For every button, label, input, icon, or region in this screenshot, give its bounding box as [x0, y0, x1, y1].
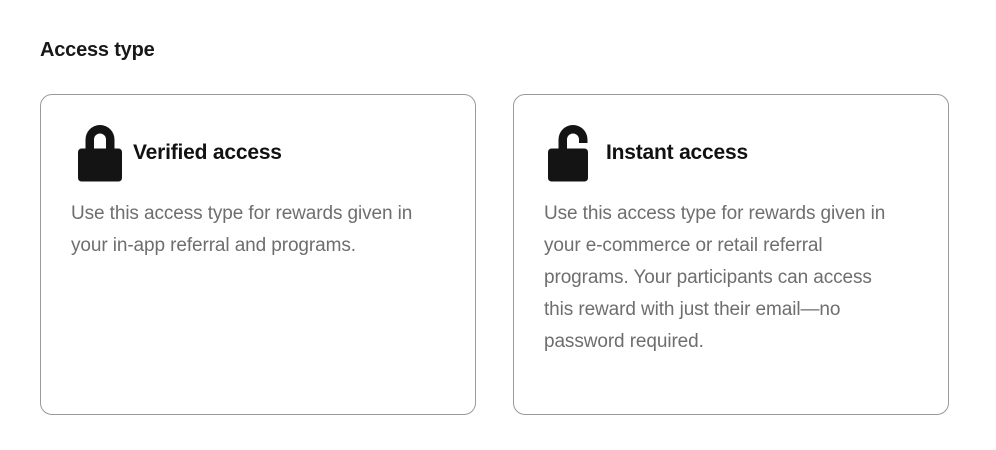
card-title: Instant access	[606, 141, 748, 165]
access-type-card-verified[interactable]: Verified access Use this access type for…	[40, 94, 476, 415]
access-type-card-list: Verified access Use this access type for…	[40, 94, 949, 415]
card-description: Use this access type for rewards given i…	[71, 198, 431, 262]
access-type-page: Access type Verified access Use this acc…	[0, 0, 996, 450]
lock-open-icon	[544, 123, 602, 183]
page-title: Access type	[40, 37, 155, 63]
access-type-card-instant[interactable]: Instant access Use this access type for …	[513, 94, 949, 415]
lock-closed-icon	[71, 123, 129, 183]
card-header: Instant access	[544, 123, 918, 183]
card-header: Verified access	[71, 123, 445, 183]
card-description: Use this access type for rewards given i…	[544, 198, 904, 358]
card-title: Verified access	[133, 141, 282, 165]
